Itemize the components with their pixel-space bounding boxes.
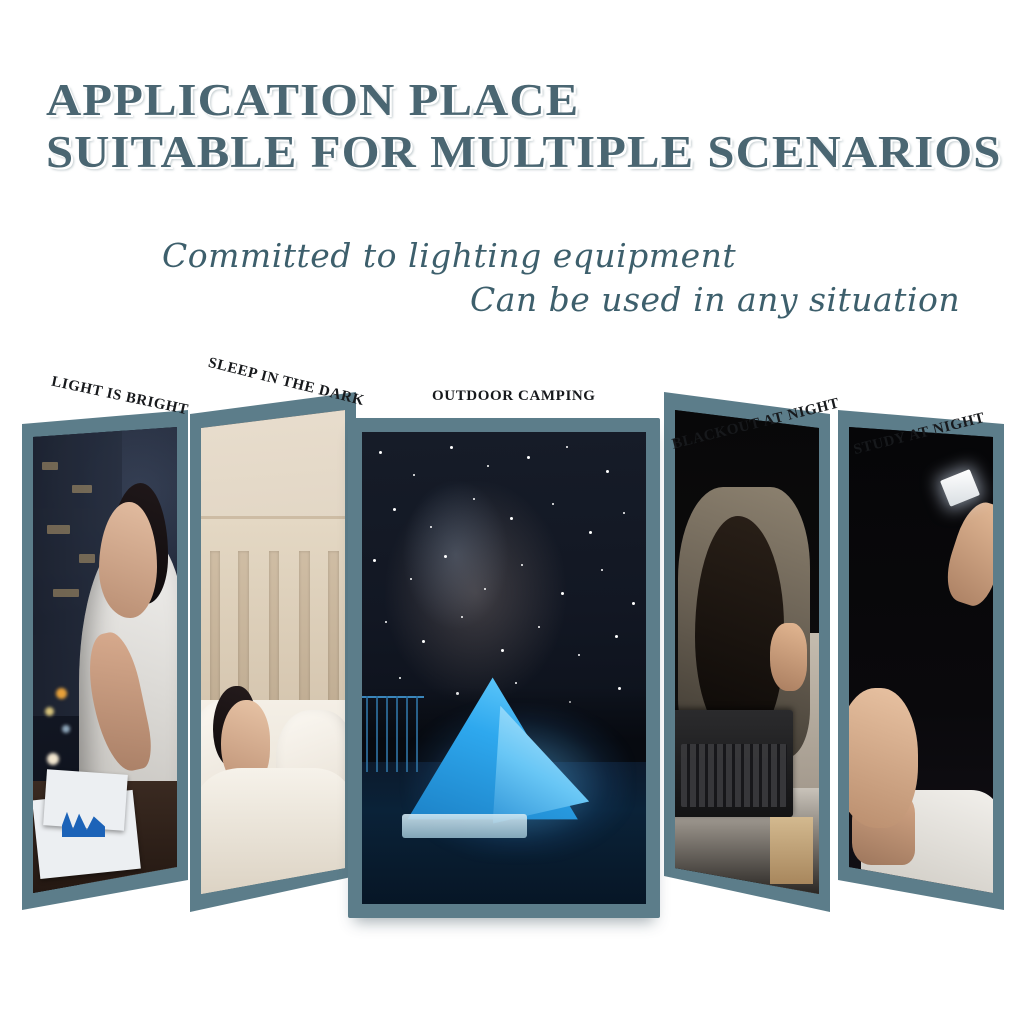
scenario-panel-2[interactable]: SLEEP IN THE DARK [190, 392, 356, 912]
balcony-railing [362, 696, 424, 772]
scenario-panel-fan: LIGHT IS BRIGHT [0, 366, 1024, 946]
subtitle-line-1: Committed to lighting equipment [162, 236, 736, 275]
page-title: APPLICATION PLACE SUITABLE FOR MULTIPLE … [46, 74, 1024, 178]
promo-graphic: APPLICATION PLACE SUITABLE FOR MULTIPLE … [0, 0, 1024, 1024]
panel-caption-1: LIGHT IS BRIGHT [50, 374, 190, 420]
panel-caption-3: OUTDOOR CAMPING [432, 388, 596, 405]
scenario-panel-4[interactable]: BLACKOUT AT NIGHT [664, 392, 830, 912]
panel-photo-2 [201, 410, 345, 894]
panel-photo-3 [362, 432, 646, 904]
panel-photo-4 [675, 410, 819, 894]
panel-photo-1 [33, 427, 177, 893]
subtitle-line-2: Can be used in any situation [470, 280, 960, 319]
scenario-panel-3[interactable]: OUTDOOR CAMPING [348, 418, 660, 918]
scenario-panel-5[interactable]: STUDY AT NIGHT [838, 410, 1004, 910]
headline-line-1: APPLICATION PLACE [46, 74, 1024, 126]
panel-photo-5 [849, 427, 993, 893]
headline-line-2: SUITABLE FOR MULTIPLE SCENARIOS [46, 126, 1024, 178]
scenario-panel-1[interactable]: LIGHT IS BRIGHT [22, 410, 188, 910]
